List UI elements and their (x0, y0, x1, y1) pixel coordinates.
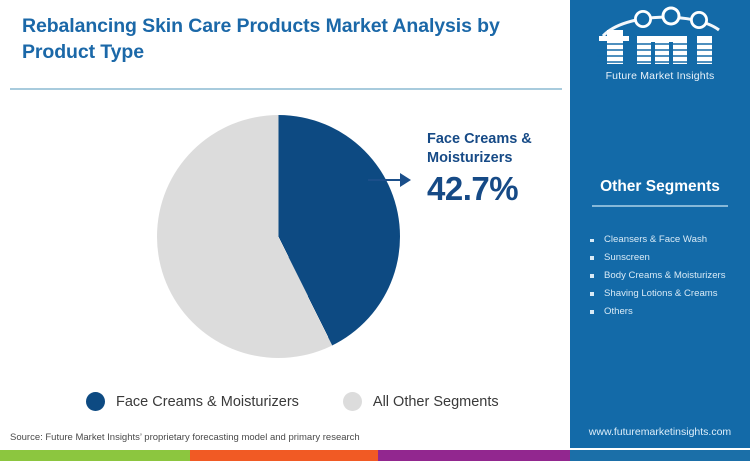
arrow-right-icon (400, 173, 411, 187)
sidebar-panel: Future Market Insights Other Segments Cl… (570, 0, 750, 448)
callout-label: Face Creams & Moisturizers (427, 130, 557, 168)
legend-label: Face Creams & Moisturizers (116, 394, 299, 410)
chart-panel: Rebalancing Skin Care Products Market An… (0, 0, 570, 448)
source-note: Source: Future Market Insights’ propriet… (10, 432, 360, 443)
legend-label: All Other Segments (373, 394, 499, 410)
website-url[interactable]: www.futuremarketinsights.com (570, 426, 750, 438)
callout-box: Face Creams & Moisturizers 42.7% (427, 130, 557, 207)
callout-leader-line (368, 179, 402, 181)
other-segments-list: Cleansers & Face Wash Sunscreen Body Cre… (588, 234, 750, 324)
sidebar-heading: Other Segments (570, 178, 750, 196)
infographic-page: Rebalancing Skin Care Products Market An… (0, 0, 750, 461)
legend-item: Face Creams & Moisturizers (86, 392, 299, 411)
list-item: Body Creams & Moisturizers (588, 270, 750, 283)
legend-item: All Other Segments (343, 392, 499, 411)
legend-dot-icon (343, 392, 362, 411)
brand-logo[interactable]: Future Market Insights (570, 6, 750, 82)
pie-chart (157, 115, 400, 358)
bar-segment-green (0, 450, 190, 461)
bar-segment-purple (378, 450, 570, 461)
chart-legend: Face Creams & Moisturizers All Other Seg… (86, 392, 499, 411)
bar-segment-blue (570, 450, 750, 461)
list-item: Cleansers & Face Wash (588, 234, 750, 247)
list-item: Sunscreen (588, 252, 750, 265)
list-item: Others (588, 306, 750, 319)
bar-segment-orange (190, 450, 378, 461)
sidebar-heading-underline (592, 205, 728, 207)
logo-caption: Future Market Insights (570, 70, 750, 82)
page-title: Rebalancing Skin Care Products Market An… (22, 14, 542, 65)
pie-slices (157, 115, 400, 358)
callout-value: 42.7% (427, 172, 557, 207)
footer-color-bar (0, 450, 750, 461)
list-item: Shaving Lotions & Creams (588, 288, 750, 301)
legend-dot-icon (86, 392, 105, 411)
fmi-logo-icon (585, 6, 735, 68)
title-divider (10, 88, 562, 90)
